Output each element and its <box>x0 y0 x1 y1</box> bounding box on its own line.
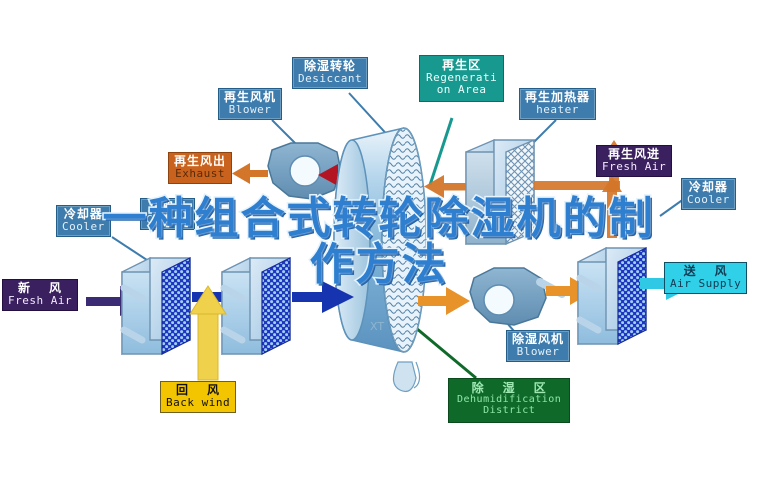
label-regen-heater-cn: 再生加热器 <box>525 91 590 104</box>
label-dehum-district[interactable]: 除湿区 Dehumidification District <box>448 378 570 423</box>
label-regen-fresh-air[interactable]: 再生风进 Fresh Air <box>596 145 672 177</box>
label-regen-blower-cn: 再生风机 <box>224 91 276 104</box>
label-regen-exhaust-en: Exhaust <box>174 168 226 180</box>
label-back-wind-cn: 回风 <box>166 384 230 397</box>
label-regen-heater[interactable]: 再生加热器 heater <box>519 88 596 120</box>
overlay-title-line-2: 作方法 <box>0 242 757 288</box>
label-dehum-district-cn: 除湿区 <box>457 382 561 395</box>
label-dehum-district-en2: District <box>457 406 561 417</box>
label-fresh-air-en: Fresh Air <box>8 295 72 307</box>
label-regen-area-cn: 再生区 <box>426 59 497 72</box>
label-cooler-right-cn: 冷却器 <box>687 181 730 194</box>
label-dehum-blower[interactable]: 除湿风机 Blower <box>506 330 570 362</box>
label-back-wind[interactable]: 回风 Back wind <box>160 381 236 413</box>
label-regen-blower-en: Blower <box>224 104 276 116</box>
leader-line-regen-area <box>430 118 452 185</box>
label-regen-exhaust-cn: 再生风出 <box>174 155 226 168</box>
overlay-title: 一种组合式转轮除湿机的制 作方法 <box>0 196 757 288</box>
label-regen-area-en2: on Area <box>426 84 497 96</box>
label-desiccant-wheel[interactable]: 除湿转轮 Desiccant <box>292 57 368 89</box>
label-regen-blower[interactable]: 再生风机 Blower <box>218 88 282 120</box>
overlay-title-line-1: 一种组合式转轮除湿机的制 <box>103 193 655 244</box>
label-regen-fresh-air-en: Fresh Air <box>602 161 666 173</box>
label-dehum-blower-en: Blower <box>512 346 564 358</box>
diagram-canvas: XT <box>0 0 757 488</box>
label-regen-area[interactable]: 再生区 Regenerati on Area <box>419 55 504 102</box>
label-regen-exhaust[interactable]: 再生风出 Exhaust <box>168 152 232 184</box>
label-desiccant-wheel-en: Desiccant <box>298 73 362 85</box>
arrow-wheel-to-blower <box>418 287 470 315</box>
label-desiccant-wheel-cn: 除湿转轮 <box>298 60 362 73</box>
label-back-wind-en: Back wind <box>166 397 230 409</box>
arrow-exhaust-out <box>232 163 268 184</box>
label-regen-heater-en: heater <box>525 104 590 116</box>
label-dehum-blower-cn: 除湿风机 <box>512 333 564 346</box>
svg-text:XT: XT <box>370 320 384 333</box>
label-regen-fresh-air-cn: 再生风进 <box>602 148 666 161</box>
